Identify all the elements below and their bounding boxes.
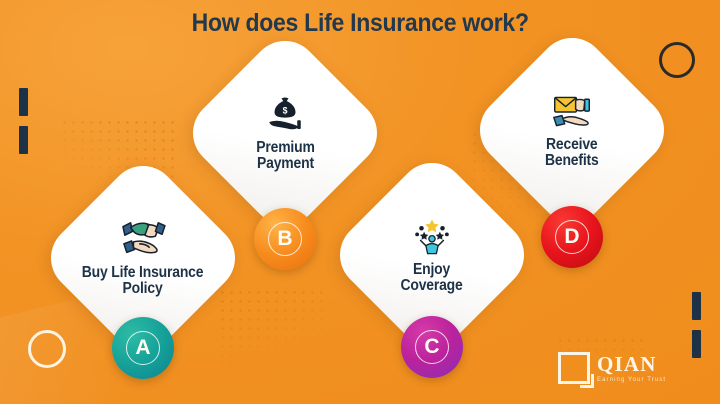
step-card-b-label: Premium Payment: [256, 140, 314, 172]
accent-bar-left-bottom: [19, 126, 28, 154]
svg-text:$: $: [283, 105, 288, 115]
logo-tagline: Earning Your Trust: [597, 377, 666, 383]
step-card-a-label-line2: Policy: [82, 281, 204, 297]
step-card-c-label: Enjoy Coverage: [401, 262, 463, 294]
infographic-canvas: How does Life Insurance work?: [0, 0, 720, 404]
step-badge-a-letter: A: [126, 331, 160, 365]
circle-outline-top-right: [659, 42, 695, 78]
accent-bar-left-top: [19, 88, 28, 116]
step-card-a-content: Buy Life Insurance Policy: [68, 183, 218, 333]
step-card-c-label-line1: Enjoy: [401, 262, 463, 278]
step-card-d-label: Receive Benefits: [545, 137, 599, 169]
celebration-person-stars-icon: [409, 216, 455, 258]
step-card-d-label-line1: Receive: [545, 137, 599, 153]
step-card-c-label-line2: Coverage: [401, 278, 463, 294]
step-card-d-label-line2: Benefits: [545, 153, 599, 169]
page-title: How does Life Insurance work?: [0, 9, 720, 38]
circle-outline-bottom-left: [28, 330, 66, 368]
logo-name: QIAN: [597, 354, 666, 375]
step-card-a-label: Buy Life Insurance Policy: [82, 265, 204, 297]
step-card-c-content: Enjoy Coverage: [357, 180, 507, 330]
step-card-d-content: Receive Benefits: [497, 55, 647, 205]
step-badge-b-letter: B: [268, 222, 302, 256]
step-badge-c[interactable]: C: [401, 316, 463, 378]
logo-text-group: QIAN Earning Your Trust: [597, 354, 666, 383]
step-badge-b[interactable]: B: [254, 208, 316, 270]
page-title-text: How does Life Insurance work?: [191, 9, 528, 38]
logo-mark-icon: [558, 352, 590, 384]
step-card-b-label-line1: Premium: [256, 140, 314, 156]
step-badge-d-letter: D: [555, 220, 589, 254]
brand-logo: QIAN Earning Your Trust: [558, 352, 666, 384]
step-badge-d[interactable]: D: [541, 206, 603, 268]
money-bag-on-hand-icon: $: [262, 94, 308, 136]
step-badge-a[interactable]: A: [112, 317, 174, 379]
step-card-b-content: $ Premium Payment: [210, 58, 360, 208]
step-card-b-label-line2: Payment: [256, 156, 314, 172]
accent-bar-right-top: [692, 292, 701, 320]
step-badge-c-letter: C: [415, 330, 449, 364]
accent-bar-right-bottom: [692, 330, 701, 358]
envelope-handoff-icon: [549, 91, 595, 133]
dot-pattern-middle: [218, 288, 330, 400]
step-card-a-label-line1: Buy Life Insurance: [82, 265, 204, 281]
hands-exchanging-money-icon: [120, 219, 166, 261]
